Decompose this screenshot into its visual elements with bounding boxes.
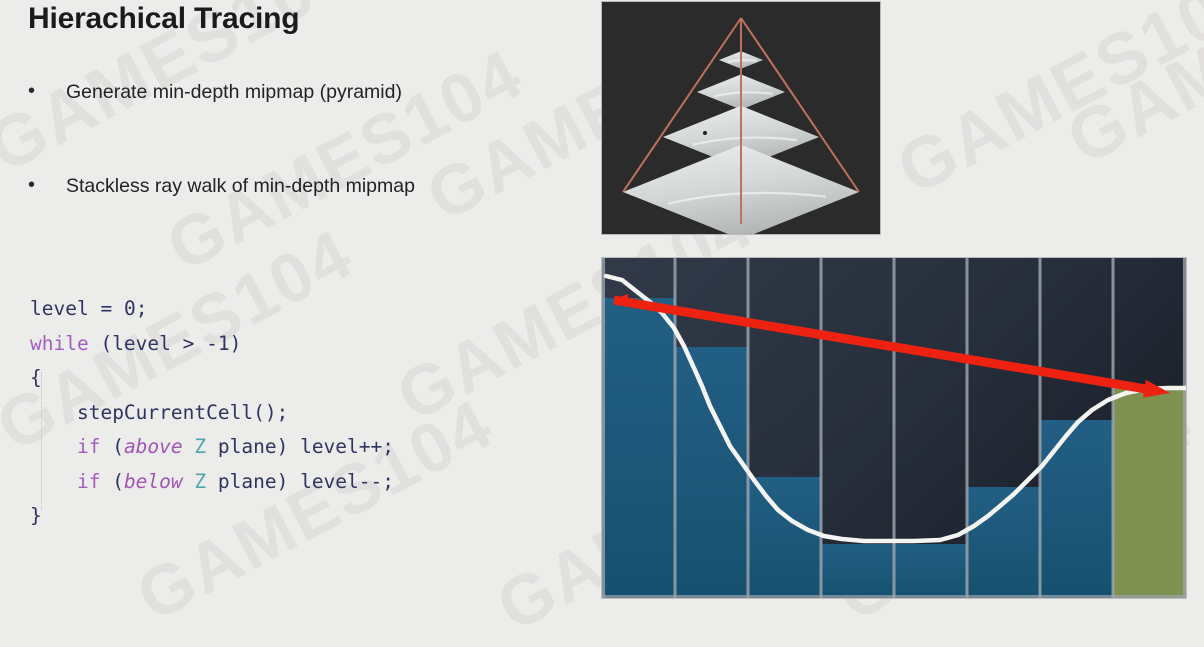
code-token: ++;: [359, 435, 394, 458]
code-token: }: [30, 504, 42, 527]
code-line: if (below Z plane) level--;: [30, 465, 394, 500]
code-token: ;: [136, 297, 148, 320]
code-token: below: [124, 470, 183, 493]
bullet-dot-icon: •: [28, 174, 44, 196]
list-item: • Generate min-depth mipmap (pyramid): [28, 80, 588, 104]
code-line: level = 0;: [30, 292, 394, 327]
bullet-text: Stackless ray walk of min-depth mipmap: [66, 174, 415, 198]
cell-fill-6: [1040, 420, 1113, 598]
cell-fill-0: [602, 298, 675, 598]
slide-title: Hierachical Tracing: [28, 2, 299, 36]
code-token: [183, 470, 195, 493]
code-line: }: [30, 499, 394, 534]
code-token: -1: [206, 332, 229, 355]
code-line: {: [30, 361, 394, 396]
bullet-list: • Generate min-depth mipmap (pyramid) • …: [28, 80, 588, 268]
code-token: {: [30, 366, 42, 389]
code-token: Z: [194, 470, 206, 493]
figure-hierarchical-trace: [602, 258, 1186, 598]
trace-svg: [602, 258, 1186, 598]
code-token: (: [89, 332, 112, 355]
code-token: above: [124, 435, 183, 458]
code-token: [112, 297, 124, 320]
indent-guide: [41, 372, 43, 510]
code-token: while: [30, 332, 89, 355]
code-token: stepCurrentCell: [77, 401, 253, 424]
code-token: ): [277, 435, 300, 458]
cell-fill-3: [821, 544, 894, 598]
list-item: • Stackless ray walk of min-depth mipmap: [28, 174, 588, 198]
code-token: (: [100, 470, 123, 493]
code-token: [89, 297, 101, 320]
code-token: ();: [253, 401, 288, 424]
code-token: ): [277, 470, 300, 493]
pyramid-svg: [602, 2, 880, 234]
mip-speck: [703, 131, 707, 135]
code-token: [206, 470, 218, 493]
code-line: if (above Z plane) level++;: [30, 430, 394, 465]
code-block: level = 0;while (level > -1){ stepCurren…: [30, 292, 394, 534]
cell-fill-2: [748, 477, 821, 598]
watermark: GAMES104: [884, 0, 1204, 211]
code-token: level: [112, 332, 171, 355]
slide-root: GAMES104 GAMES104 GAMES104 GAMES104 GAME…: [0, 0, 1204, 614]
cell-fill-1: [675, 347, 748, 598]
code-token: level: [300, 435, 359, 458]
code-token: [206, 435, 218, 458]
code-line: while (level > -1): [30, 327, 394, 362]
cell-hit-7: [1113, 388, 1186, 598]
code-token: (: [100, 435, 123, 458]
code-indent: [30, 401, 77, 424]
cell-fill-4: [894, 544, 967, 598]
code-token: Z: [194, 435, 206, 458]
code-token: --;: [359, 470, 394, 493]
code-token: if: [77, 435, 100, 458]
bullet-dot-icon: •: [28, 80, 44, 102]
code-token: level: [30, 297, 89, 320]
code-token: plane: [218, 470, 277, 493]
code-token: level: [300, 470, 359, 493]
code-token: [183, 435, 195, 458]
code-token: 0: [124, 297, 136, 320]
bullet-text: Generate min-depth mipmap (pyramid): [66, 80, 402, 104]
figure-mip-pyramid: [602, 2, 880, 234]
code-token: ): [230, 332, 242, 355]
code-token: =: [100, 297, 112, 320]
code-token: if: [77, 470, 100, 493]
code-line: stepCurrentCell();: [30, 396, 394, 431]
code-token: plane: [218, 435, 277, 458]
code-indent: [30, 435, 77, 458]
code-indent: [30, 470, 77, 493]
watermark: GAMES104: [1054, 0, 1204, 181]
code-token: >: [171, 332, 206, 355]
